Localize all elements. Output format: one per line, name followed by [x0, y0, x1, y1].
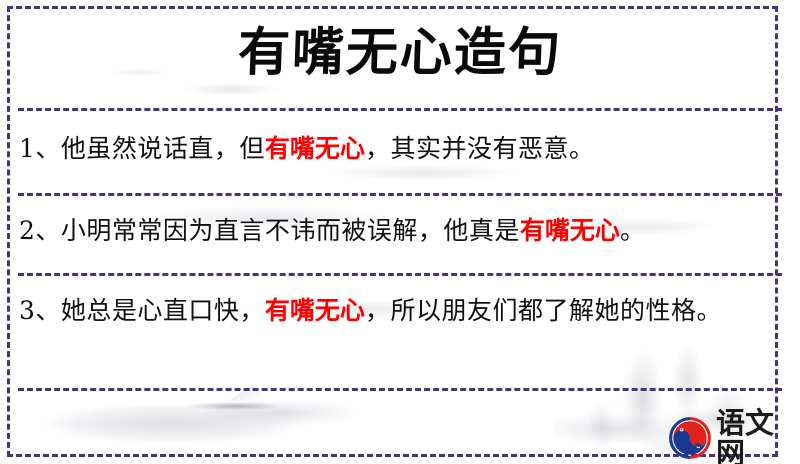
divider-rule-4 — [18, 388, 782, 391]
sentence-number: 3、 — [19, 296, 61, 325]
highlighted-idiom: 有嘴无心 — [265, 296, 365, 325]
divider-rule-3 — [18, 273, 782, 276]
sentence-text: 他虽然说话直，但 — [61, 134, 265, 163]
sentence-number: 2、 — [19, 216, 61, 245]
sentence-text: ，所以朋友们都了解她的性格。 — [365, 296, 722, 325]
divider-rule-2 — [18, 193, 782, 196]
page-title: 有嘴无心造句 — [0, 20, 800, 86]
sentence-text: 小明常常因为直言不讳而被误解，他真是 — [61, 216, 520, 245]
content-area: 有嘴无心造句 1、他虽然说话直，但有嘴无心，其实并没有恶意。 2、小明常常因为直… — [0, 0, 800, 464]
divider-rule-1 — [18, 108, 782, 111]
sentence-item-2: 2、小明常常因为直言不讳而被误解，他真是有嘴无心。 — [19, 210, 770, 252]
sentence-text: 。 — [620, 216, 646, 245]
sentence-text: ，其实并没有恶意。 — [365, 134, 595, 163]
sentence-item-3: 3、她总是心直口快，有嘴无心，所以朋友们都了解她的性格。 — [19, 290, 770, 332]
page-root: 有嘴无心造句 1、他虽然说话直，但有嘴无心，其实并没有恶意。 2、小明常常因为直… — [0, 0, 800, 464]
sentence-number: 1、 — [19, 134, 61, 163]
sentence-item-1: 1、他虽然说话直，但有嘴无心，其实并没有恶意。 — [19, 128, 770, 170]
site-logo[interactable]: 语文网 — [668, 408, 800, 464]
sentence-text: 她总是心直口快， — [61, 296, 265, 325]
site-logo-text: 语文网 — [716, 408, 800, 464]
highlighted-idiom: 有嘴无心 — [265, 134, 365, 163]
highlighted-idiom: 有嘴无心 — [520, 216, 620, 245]
yinyang-fish-logo-icon — [668, 416, 712, 460]
